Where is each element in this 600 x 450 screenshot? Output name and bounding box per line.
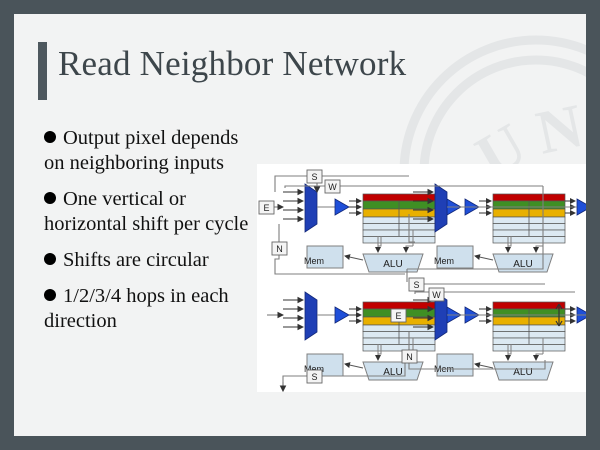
bullet-list: Output pixel depends on neighboring inpu…: [44, 126, 259, 345]
read-neighbor-network-diagram: Mem ALU Mem ALU Mem ALU Mem ALU: [257, 164, 586, 392]
port-label-n-top: N: [272, 242, 287, 255]
tile-top-right: Mem ALU: [413, 184, 586, 272]
watermark-letter-n2: N: [531, 92, 586, 168]
title-accent-bar: [38, 42, 47, 100]
bullet-dot-icon: [44, 192, 56, 204]
svg-text:W: W: [432, 290, 441, 300]
port-label-s-mid: S: [409, 278, 424, 291]
svg-text:N: N: [276, 244, 283, 254]
list-item: One vertical or horizontal shift per cyc…: [44, 187, 259, 237]
port-label-e-mid: E: [391, 309, 406, 322]
svg-text:W: W: [328, 182, 337, 192]
svg-text:E: E: [263, 203, 269, 213]
slide-canvas: N U N I V ) 9 C Read Neighbor Network Ou…: [14, 14, 586, 436]
bullet-text: Output pixel depends on neighboring inpu…: [44, 127, 238, 174]
list-item: Output pixel depends on neighboring inpu…: [44, 126, 259, 176]
port-label-e-top: E: [259, 201, 274, 214]
svg-text:N: N: [406, 352, 413, 362]
port-label-s-top: S: [307, 170, 322, 183]
list-item: Shifts are circular: [44, 248, 259, 273]
mem-label: Mem: [434, 256, 454, 266]
mem-label: Mem: [304, 256, 324, 266]
svg-text:S: S: [413, 280, 419, 290]
bullet-text: One vertical or horizontal shift per cyc…: [44, 188, 248, 235]
port-label-n-mid: N: [402, 350, 417, 363]
svg-text:S: S: [311, 172, 317, 182]
svg-text:E: E: [395, 311, 401, 321]
bullet-dot-icon: [44, 289, 56, 301]
svg-text:S: S: [311, 372, 317, 382]
bullet-dot-icon: [44, 131, 56, 143]
alu-label: ALU: [513, 259, 532, 270]
port-label-w-top: W: [325, 180, 340, 193]
port-label-w-mid: W: [429, 288, 444, 301]
page-title: Read Neighbor Network: [58, 44, 406, 84]
bullet-dot-icon: [44, 253, 56, 265]
bullet-text: Shifts are circular: [63, 249, 209, 271]
bullet-text: 1/2/3/4 hops in each direction: [44, 285, 229, 332]
list-item: 1/2/3/4 hops in each direction: [44, 284, 259, 334]
port-label-s-bottom: S: [307, 370, 322, 383]
alu-label: ALU: [383, 259, 402, 270]
